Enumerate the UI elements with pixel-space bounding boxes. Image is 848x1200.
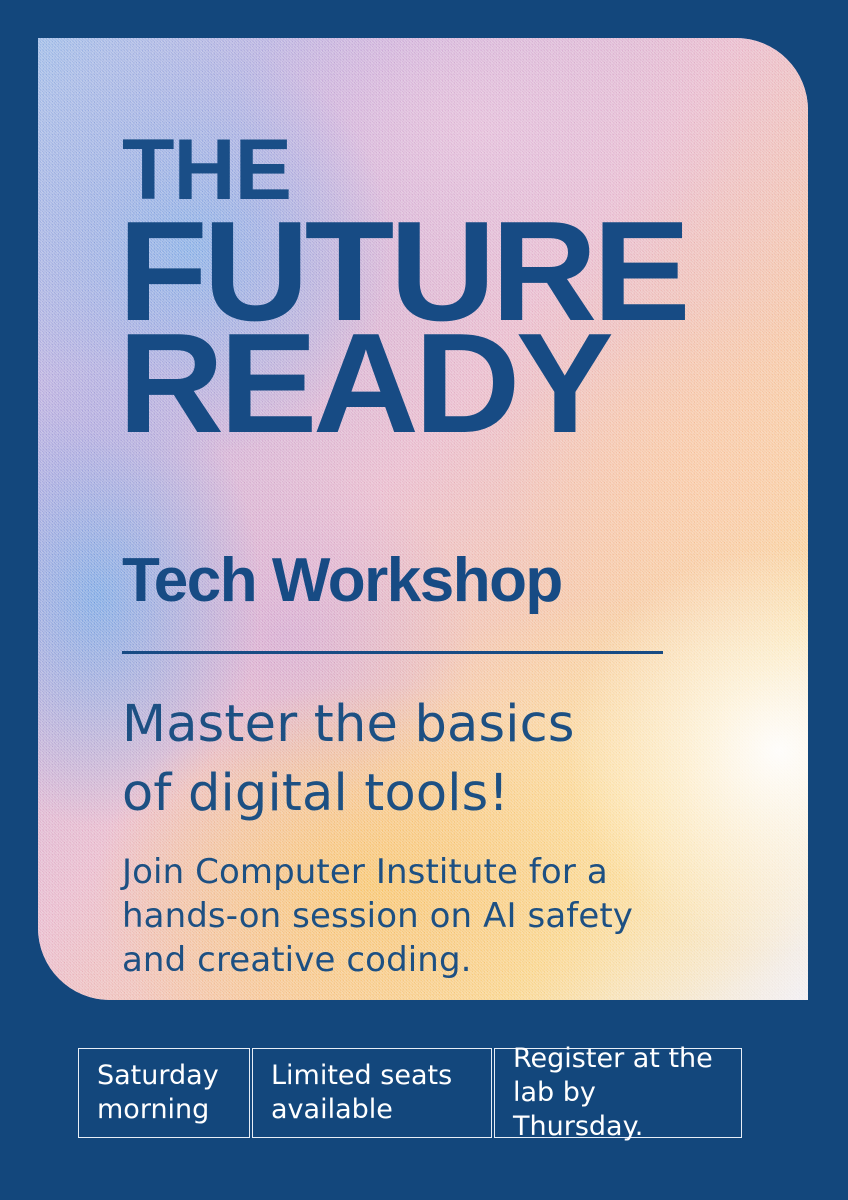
info-box-schedule-line-2: morning [97,1093,219,1127]
tagline: Master the basics of digital tools! [122,690,575,829]
body-line-1: Join Computer Institute for a [122,850,633,894]
panel-content: THE FUTURE READY Tech Workshop Master th… [38,38,808,1000]
headline-line-2: READY [118,328,686,440]
info-box-seats-line-2: available [271,1093,452,1127]
gradient-panel: THE FUTURE READY Tech Workshop Master th… [38,38,808,1000]
info-box-schedule-line-1: Saturday [97,1059,219,1093]
info-box-schedule: Saturday morning [78,1048,250,1138]
subtitle: Tech Workshop [122,550,562,612]
body-line-3: and creative coding. [122,938,633,982]
info-box-seats: Limited seats available [252,1048,492,1138]
info-box-registration-line-2: lab by Thursday. [513,1076,723,1144]
info-box-seats-line-1: Limited seats [271,1059,452,1093]
info-box-row: Saturday morning Limited seats available… [78,1048,742,1138]
body-line-2: hands-on session on AI safety [122,894,633,938]
info-box-registration-line-1: Register at the [513,1042,723,1076]
poster-canvas: THE FUTURE READY Tech Workshop Master th… [0,0,848,1200]
tagline-line-1: Master the basics [122,690,575,759]
divider-rule [122,651,663,654]
info-box-registration: Register at the lab by Thursday. [494,1048,742,1138]
body-copy: Join Computer Institute for a hands-on s… [122,850,633,983]
tagline-line-2: of digital tools! [122,759,575,828]
headline: FUTURE READY [118,216,686,440]
